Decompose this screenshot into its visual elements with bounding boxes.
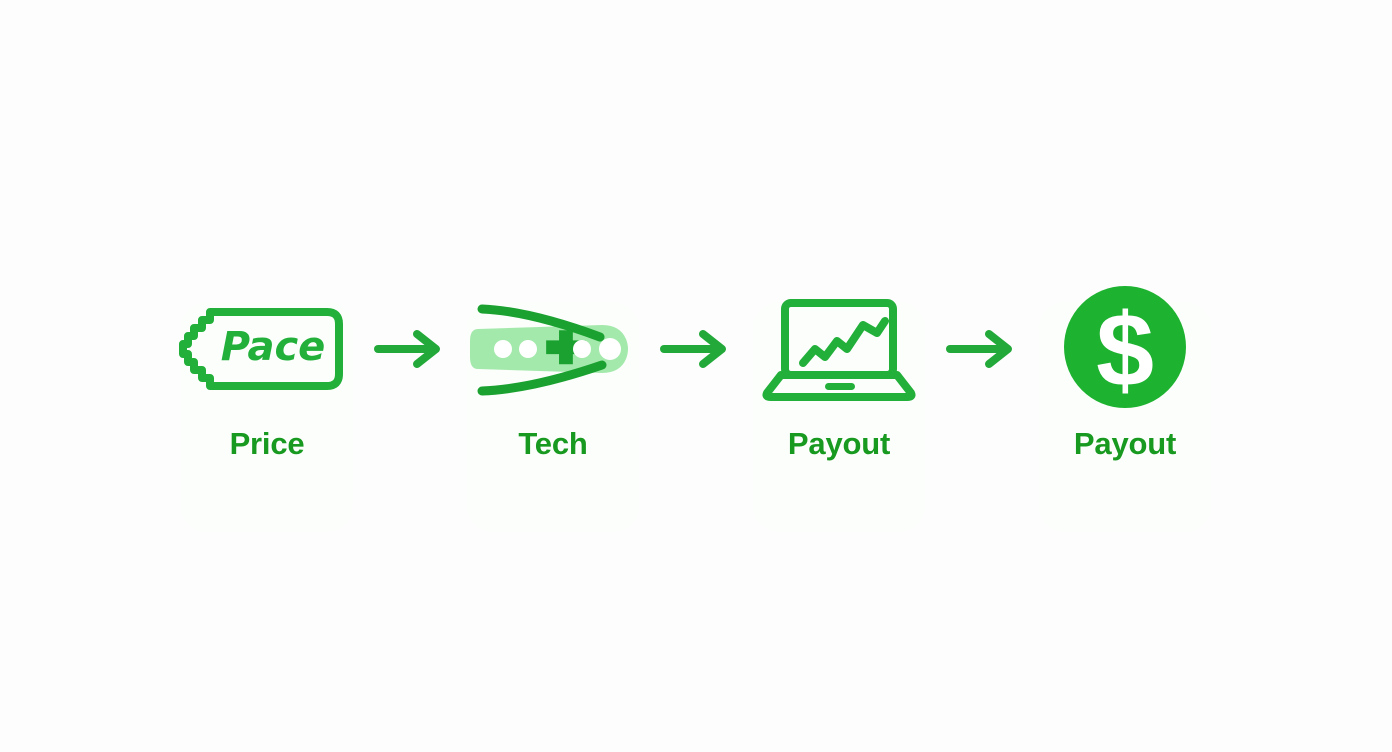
dollar-sign-glyph: $ — [1096, 293, 1154, 409]
laptop-chart-icon — [759, 291, 919, 407]
step-label-payout-laptop: Payout — [788, 428, 890, 459]
flow-diagram-canvas: Pace Price — [0, 0, 1392, 752]
tech-dot-1 — [494, 340, 512, 358]
connector-arrow-3 — [934, 284, 1030, 414]
price-tag-icon-box: Pace — [172, 284, 362, 414]
tech-dot-3 — [573, 340, 591, 358]
flow-step-payout-dollar[interactable]: $ Payout — [1030, 284, 1220, 459]
tech-dot-2 — [519, 340, 537, 358]
connector-arrow-2 — [648, 284, 744, 414]
dollar-circle-icon-box: $ — [1030, 284, 1220, 414]
tech-dot-4 — [599, 338, 621, 360]
dollar-circle-icon: $ — [1060, 284, 1190, 414]
laptop-trackpad-notch — [825, 383, 855, 390]
flow-step-payout-laptop[interactable]: Payout — [744, 284, 934, 459]
tech-chip-icon — [460, 289, 646, 409]
laptop-trend-line — [803, 321, 885, 363]
price-tag-icon: Pace — [177, 294, 357, 404]
tech-chip-icon-box — [458, 284, 648, 414]
arrow-right-icon — [372, 326, 448, 372]
step-label-price: Price — [230, 428, 305, 459]
arrow-right-icon — [658, 326, 734, 372]
arrow-right-icon — [944, 326, 1020, 372]
flow-steps-row: Pace Price — [172, 284, 1220, 459]
step-label-tech: Tech — [518, 428, 587, 459]
flow-step-tech[interactable]: Tech — [458, 284, 648, 459]
connector-arrow-1 — [362, 284, 458, 414]
step-label-payout-dollar: Payout — [1074, 428, 1176, 459]
laptop-chart-icon-box — [744, 284, 934, 414]
price-tag-wordmark: Pace — [221, 324, 326, 370]
flow-step-price[interactable]: Pace Price — [172, 284, 362, 459]
